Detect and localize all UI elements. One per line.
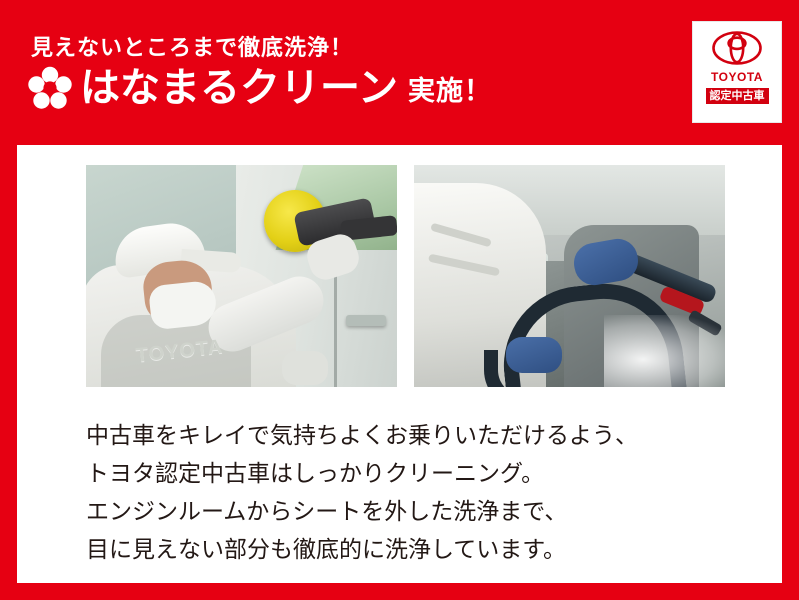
photo2-glove-lower: [506, 337, 562, 373]
header-brand-row: はなまるクリーン 実施！: [28, 66, 492, 110]
flower-icon: [28, 66, 72, 110]
caption-line-2: トヨタ認定中古車はしっかりクリーニング。: [86, 455, 726, 493]
photo-polishing: TOYOTA: [86, 165, 397, 387]
photo1-door-seam: [334, 260, 337, 387]
caption-line-1: 中古車をキレイで気持ちよくお乗りいただけるよう、: [86, 417, 726, 455]
brand-name: はなまるクリーン: [80, 68, 398, 108]
toyota-logo-box: TOYOTA 認定中古車: [692, 21, 782, 123]
caption-line-4: 目に見えない部分も徹底的に洗浄しています。: [86, 531, 726, 569]
toyota-sublabel: 認定中古車: [706, 88, 769, 104]
brand-suffix: 実施！: [408, 69, 492, 108]
photo-row: TOYOTA: [17, 165, 782, 387]
toyota-emblem-icon: [712, 31, 762, 65]
photo2-steam-cloud: [604, 315, 725, 387]
content-panel: TOYOTA: [17, 145, 782, 583]
toyota-wordmark: TOYOTA: [711, 70, 763, 84]
caption-line-3: エンジンルームからシートを外した洗浄まで、: [86, 493, 726, 531]
photo1-glove-lower: [282, 351, 328, 385]
photo-steam-cleaning: [414, 165, 725, 387]
header-tagline: 見えないところまで徹底洗浄！: [31, 30, 353, 62]
poster-page: 見えないところまで徹底洗浄！ はなまるクリーン 実施！: [0, 0, 799, 600]
caption-block: 中古車をキレイで気持ちよくお乗りいただけるよう、 トヨタ認定中古車はしっかりクリ…: [86, 417, 726, 569]
photo1-door-handle: [346, 315, 386, 326]
header: 見えないところまで徹底洗浄！ はなまるクリーン 実施！: [0, 0, 799, 145]
